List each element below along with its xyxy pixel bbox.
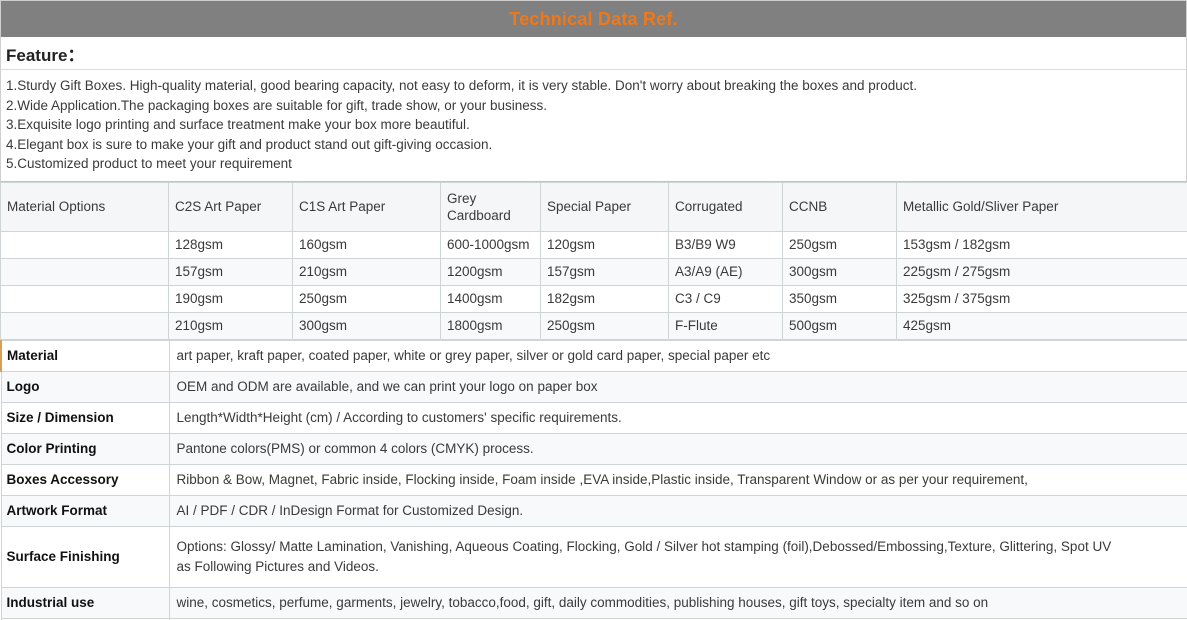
spec-row-logo: Logo OEM and ODM are available, and we c…	[1, 371, 1187, 402]
spec-row-industrial-use: Industrial use wine, cosmetics, perfume,…	[1, 587, 1187, 618]
table-row: 157gsm 210gsm 1200gsm 157gsm A3/A9 (AE) …	[1, 258, 1187, 285]
col-header-special-paper: Special Paper	[541, 182, 669, 231]
spec-row-color-printing: Color Printing Pantone colors(PMS) or co…	[1, 433, 1187, 464]
feature-heading-row: Feature：	[0, 37, 1187, 70]
cell-corrugated: A3/A9 (AE)	[669, 258, 783, 285]
feature-heading: Feature：	[6, 41, 84, 66]
spec-key: Color Printing	[1, 433, 169, 464]
specification-table: Material art paper, kraft paper, coated …	[0, 340, 1187, 620]
spec-key: Surface Finishing	[1, 526, 169, 587]
page-title-bar: Technical Data Ref.	[0, 0, 1187, 37]
spec-row-artwork-format: Artwork Format AI / PDF / CDR / InDesign…	[1, 495, 1187, 526]
cell-special-paper: 157gsm	[541, 258, 669, 285]
feature-line: 5.Customized product to meet your requir…	[6, 154, 1181, 174]
cell-material-options	[1, 231, 169, 258]
feature-line: 4.Elegant box is sure to make your gift …	[6, 135, 1181, 155]
cell-grey-cardboard: 600-1000gsm	[441, 231, 541, 258]
spec-row-surface-finishing: Surface Finishing Options: Glossy/ Matte…	[1, 526, 1187, 587]
material-options-table: Material Options C2S Art Paper C1S Art P…	[0, 182, 1187, 340]
cell-corrugated: F-Flute	[669, 312, 783, 339]
col-header-c2s-art-paper: C2S Art Paper	[169, 182, 293, 231]
spec-key: Industrial use	[1, 587, 169, 618]
col-header-c1s-art-paper: C1S Art Paper	[293, 182, 441, 231]
spec-value: Pantone colors(PMS) or common 4 colors (…	[169, 433, 1187, 464]
cell-metallic: 153gsm / 182gsm	[897, 231, 1187, 258]
cell-grey-cardboard: 1200gsm	[441, 258, 541, 285]
spec-row-boxes-accessory: Boxes Accessory Ribbon & Bow, Magnet, Fa…	[1, 464, 1187, 495]
page-title: Technical Data Ref.	[509, 10, 678, 28]
cell-corrugated: B3/B9 W9	[669, 231, 783, 258]
col-header-metallic-gold-sliver-paper: Metallic Gold/Sliver Paper	[897, 182, 1187, 231]
table-row: 190gsm 250gsm 1400gsm 182gsm C3 / C9 350…	[1, 285, 1187, 312]
spec-value: Ribbon & Bow, Magnet, Fabric inside, Flo…	[169, 464, 1187, 495]
spec-key: Logo	[1, 371, 169, 402]
spec-value: Options: Glossy/ Matte Lamination, Vanis…	[169, 526, 1187, 587]
feature-line: 2.Wide Application.The packaging boxes a…	[6, 96, 1181, 116]
spec-row-material: Material art paper, kraft paper, coated …	[1, 340, 1187, 371]
cell-ccnb: 300gsm	[783, 258, 897, 285]
spec-value: wine, cosmetics, perfume, garments, jewe…	[169, 587, 1187, 618]
cell-special-paper: 120gsm	[541, 231, 669, 258]
col-header-corrugated: Corrugated	[669, 182, 783, 231]
cell-metallic: 325gsm / 375gsm	[897, 285, 1187, 312]
technical-data-page: Technical Data Ref. Feature： 1.Sturdy Gi…	[0, 0, 1187, 620]
spec-value: art paper, kraft paper, coated paper, wh…	[169, 340, 1187, 371]
cell-ccnb: 350gsm	[783, 285, 897, 312]
spec-key: Material	[1, 340, 169, 371]
spec-value: Length*Width*Height (cm) / According to …	[169, 402, 1187, 433]
table-row: 210gsm 300gsm 1800gsm 250gsm F-Flute 500…	[1, 312, 1187, 339]
cell-special-paper: 250gsm	[541, 312, 669, 339]
cell-c2s: 210gsm	[169, 312, 293, 339]
col-header-material-options: Material Options	[1, 182, 169, 231]
cell-corrugated: C3 / C9	[669, 285, 783, 312]
cell-c2s: 190gsm	[169, 285, 293, 312]
cell-c1s: 210gsm	[293, 258, 441, 285]
cell-ccnb: 500gsm	[783, 312, 897, 339]
cell-c1s: 250gsm	[293, 285, 441, 312]
cell-c2s: 157gsm	[169, 258, 293, 285]
spec-value: AI / PDF / CDR / InDesign Format for Cus…	[169, 495, 1187, 526]
col-header-grey-cardboard: Grey Cardboard	[441, 182, 541, 231]
spec-key: Size / Dimension	[1, 402, 169, 433]
cell-c2s: 128gsm	[169, 231, 293, 258]
cell-grey-cardboard: 1800gsm	[441, 312, 541, 339]
spec-value-line-1: Options: Glossy/ Matte Lamination, Vanis…	[177, 537, 1182, 557]
feature-line: 3.Exquisite logo printing and surface tr…	[6, 115, 1181, 135]
spec-key: Boxes Accessory	[1, 464, 169, 495]
feature-line: 1.Sturdy Gift Boxes. High-quality materi…	[6, 76, 1181, 96]
table-row: 128gsm 160gsm 600-1000gsm 120gsm B3/B9 W…	[1, 231, 1187, 258]
spec-value-line-2: as Following Pictures and Videos.	[177, 557, 1182, 577]
spec-row-size-dimension: Size / Dimension Length*Width*Height (cm…	[1, 402, 1187, 433]
cell-special-paper: 182gsm	[541, 285, 669, 312]
cell-material-options	[1, 312, 169, 339]
col-header-ccnb: CCNB	[783, 182, 897, 231]
spec-key: Artwork Format	[1, 495, 169, 526]
cell-c1s: 300gsm	[293, 312, 441, 339]
cell-grey-cardboard: 1400gsm	[441, 285, 541, 312]
cell-material-options	[1, 258, 169, 285]
feature-list: 1.Sturdy Gift Boxes. High-quality materi…	[0, 70, 1187, 182]
material-table-header-row: Material Options C2S Art Paper C1S Art P…	[1, 182, 1187, 231]
cell-c1s: 160gsm	[293, 231, 441, 258]
cell-metallic: 225gsm / 275gsm	[897, 258, 1187, 285]
cell-metallic: 425gsm	[897, 312, 1187, 339]
cell-material-options	[1, 285, 169, 312]
spec-value: OEM and ODM are available, and we can pr…	[169, 371, 1187, 402]
cell-ccnb: 250gsm	[783, 231, 897, 258]
